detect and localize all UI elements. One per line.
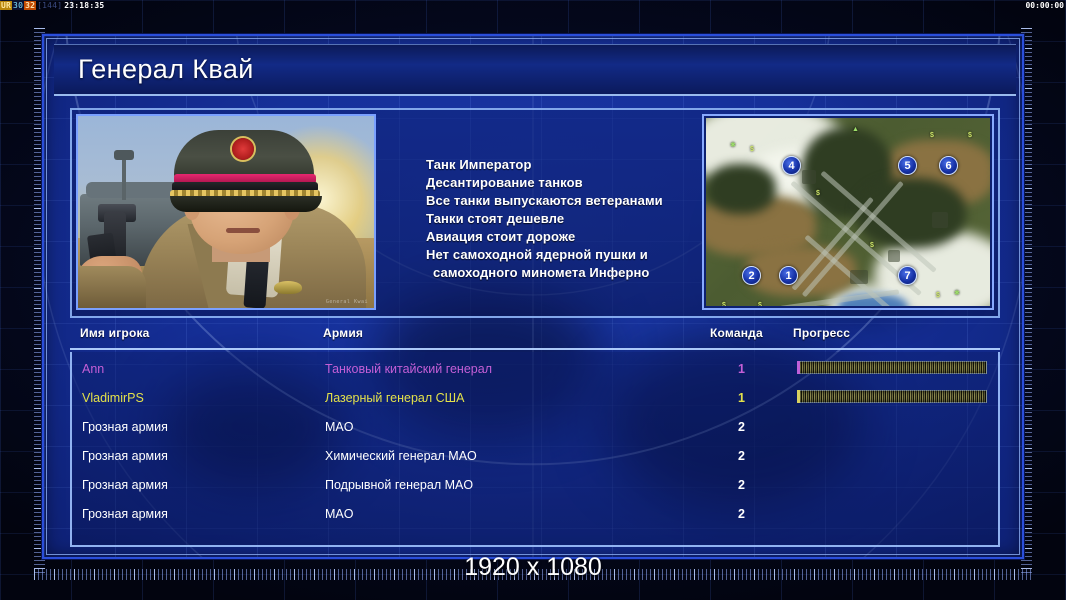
player-table-header: Имя игрока Армия Команда Прогресс xyxy=(70,326,1000,350)
cell-army: Подрывной генерал MAO xyxy=(325,478,473,492)
table-row[interactable]: VladimirPSЛазерный генерал США1 xyxy=(72,386,998,410)
column-header-player-name: Имя игрока xyxy=(80,326,150,340)
minimap-start-position-5[interactable]: 5 xyxy=(898,156,917,175)
column-header-progress: Прогресс xyxy=(793,326,850,340)
column-header-army: Армия xyxy=(323,326,363,340)
description-list: Танк Император Десантирование танков Все… xyxy=(426,156,698,282)
cell-player-name: Грозная армия xyxy=(82,478,168,492)
cell-team: 1 xyxy=(738,391,745,405)
resolution-label: 1920 x 1080 xyxy=(0,553,1066,582)
uniform-badge-icon xyxy=(274,281,302,294)
table-row[interactable]: Грозная армияMAO2 xyxy=(72,502,998,526)
status-session-time: 23:18:35 xyxy=(63,1,105,10)
cell-player-name: Грозная армия xyxy=(82,449,168,463)
cell-team: 1 xyxy=(738,362,745,376)
description-line: Авиация стоит дороже xyxy=(426,228,698,246)
table-row[interactable]: Грозная армияХимический генерал MAO2 xyxy=(72,444,998,468)
top-status-bar: UR3032[144]23:18:35 xyxy=(0,0,1066,11)
description-line: самоходного миномета Инферно xyxy=(426,264,698,282)
column-header-team: Команда xyxy=(710,326,763,340)
cell-player-name: Ann xyxy=(82,362,104,376)
status-ur-label: UR xyxy=(0,1,12,10)
cell-army: MAO xyxy=(325,507,353,521)
minimap-start-position-1[interactable]: 1 xyxy=(779,266,798,285)
player-table: AnnТанковый китайский генерал1VladimirPS… xyxy=(70,352,1000,547)
description-line: Десантирование танков xyxy=(426,174,698,192)
cell-progress xyxy=(797,390,987,403)
cap-star-icon xyxy=(232,138,254,160)
minimap[interactable]: ▲ ▲ $ $ $ $ $ $ $ $ ✱ ✱ ✱ 456217 xyxy=(702,114,994,310)
table-row[interactable]: Грозная армияПодрывной генерал MAO2 xyxy=(72,473,998,497)
description-line: Танк Император xyxy=(426,156,698,174)
table-row[interactable]: AnnТанковый китайский генерал1 xyxy=(72,357,998,381)
cell-player-name: Грозная армия xyxy=(82,420,168,434)
cell-team: 2 xyxy=(738,449,745,463)
cell-army: Лазерный генерал США xyxy=(325,391,464,405)
cell-army: MAO xyxy=(325,420,353,434)
cell-progress xyxy=(797,361,987,374)
cell-army: Химический генерал MAO xyxy=(325,449,477,463)
general-portrait: General Kwai xyxy=(76,114,376,310)
minimap-start-position-4[interactable]: 4 xyxy=(782,156,801,175)
minimap-canvas: ▲ ▲ $ $ $ $ $ $ $ $ ✱ ✱ ✱ 456217 xyxy=(706,118,990,306)
cell-player-name: VladimirPS xyxy=(82,391,144,405)
description-line: Все танки выпускаются ветеранами xyxy=(426,192,698,210)
status-num1: 30 xyxy=(12,1,24,10)
status-clock: 00:00:00 xyxy=(1025,0,1064,11)
page-title: Генерал Квай xyxy=(78,54,254,85)
progress-bar-cap xyxy=(797,361,800,374)
cell-army: Танковый китайский генерал xyxy=(325,362,492,376)
content-area: General Kwai Танк Император Десантирован… xyxy=(44,100,1024,557)
title-bar: Генерал Квай xyxy=(54,44,1016,96)
general-info-panel: General Kwai Танк Император Десантирован… xyxy=(70,108,1000,318)
description-line: Танки стоят дешевле xyxy=(426,210,698,228)
main-window: Генерал Квай xyxy=(42,34,1024,559)
table-row[interactable]: Грозная армияMAO2 xyxy=(72,415,998,439)
minimap-start-position-2[interactable]: 2 xyxy=(742,266,761,285)
cell-player-name: Грозная армия xyxy=(82,507,168,521)
minimap-start-position-6[interactable]: 6 xyxy=(939,156,958,175)
cell-team: 2 xyxy=(738,420,745,434)
description-line: Нет самоходной ядерной пушки и xyxy=(426,246,698,264)
general-description: Танк Император Десантирование танков Все… xyxy=(380,110,698,316)
cell-team: 2 xyxy=(738,507,745,521)
progress-bar xyxy=(797,390,987,403)
status-bracket: [144] xyxy=(36,1,63,10)
status-num2: 32 xyxy=(24,1,36,10)
cell-team: 2 xyxy=(738,478,745,492)
minimap-start-position-7[interactable]: 7 xyxy=(898,266,917,285)
progress-bar xyxy=(797,361,987,374)
progress-bar-cap xyxy=(797,390,800,403)
portrait-caption: General Kwai xyxy=(326,299,368,305)
